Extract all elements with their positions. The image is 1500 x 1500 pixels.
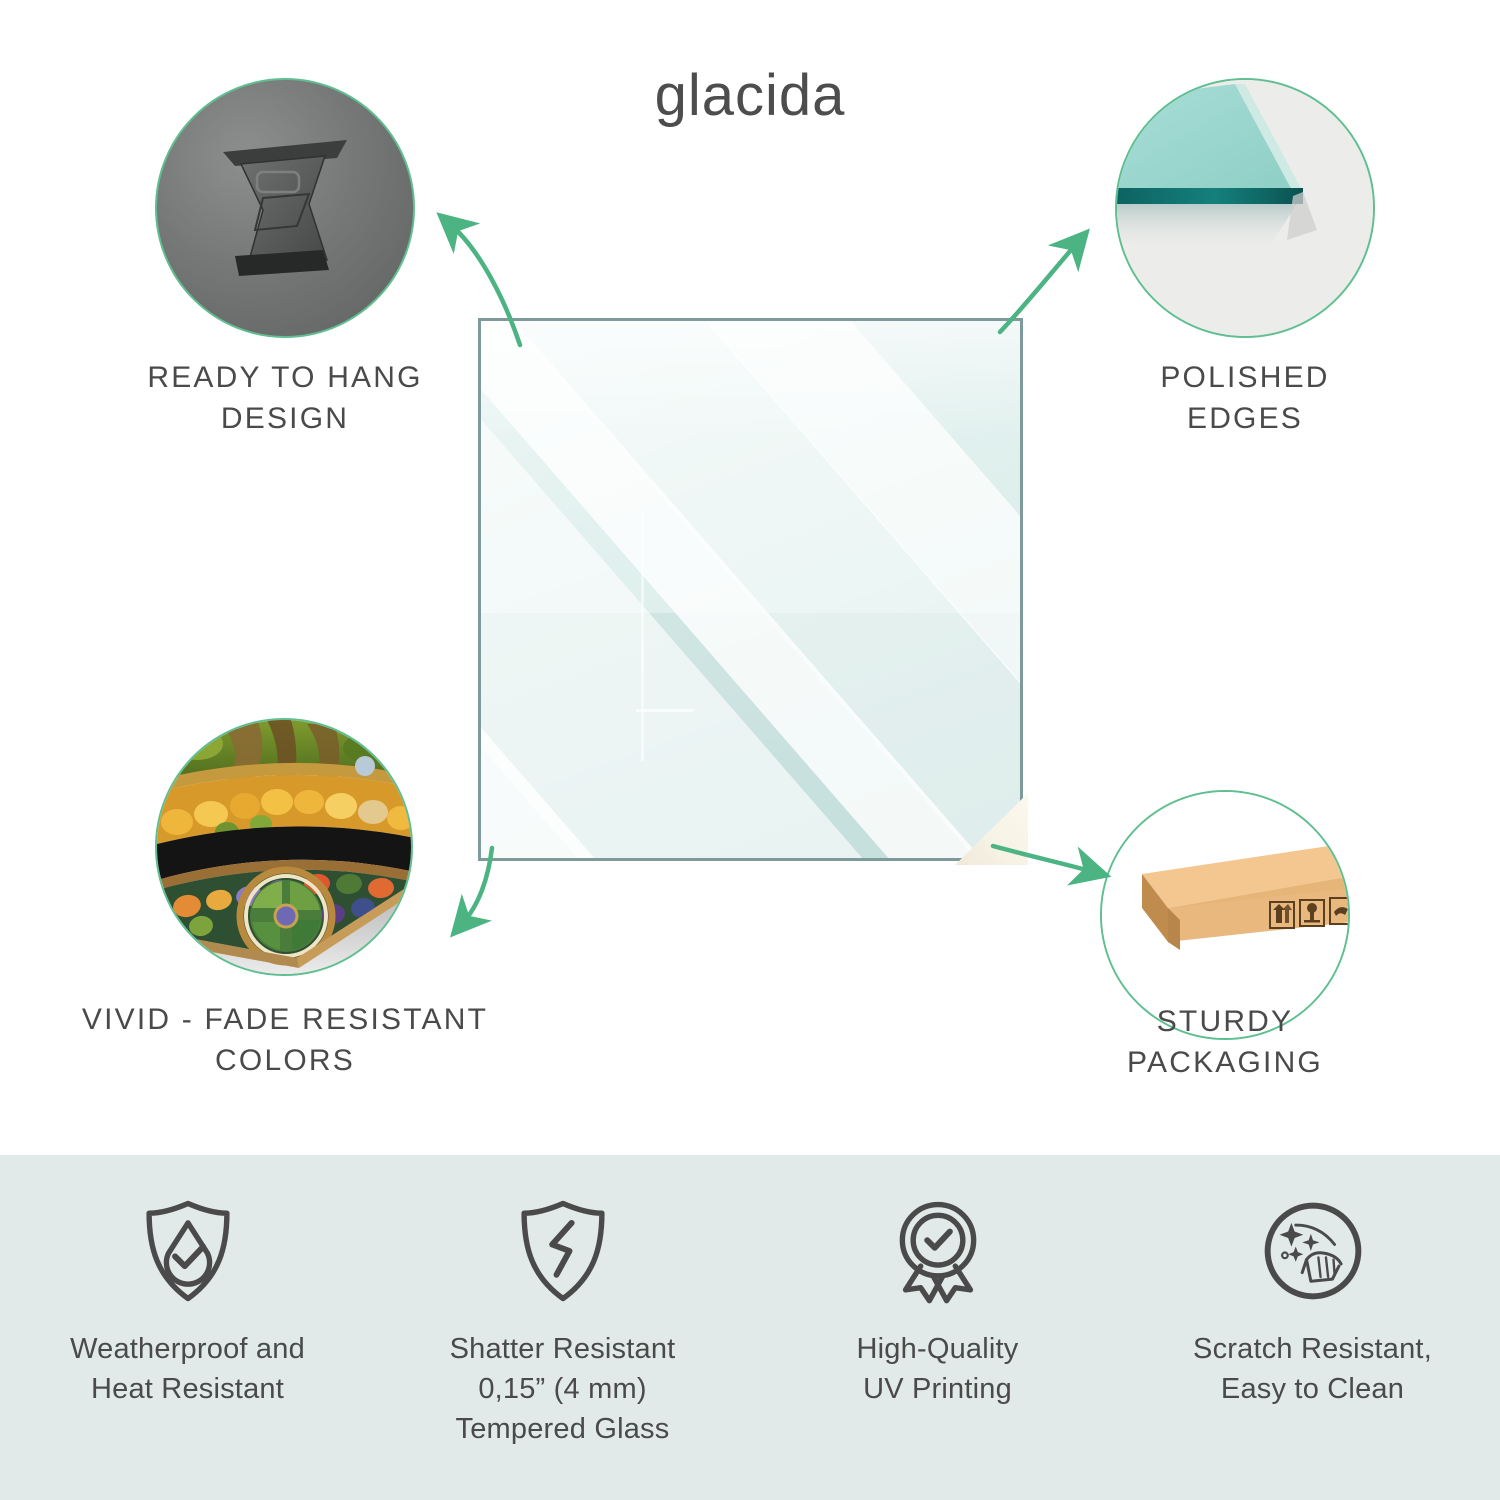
award-ribbon-check-icon — [884, 1197, 992, 1305]
hanging-bracket-icon — [205, 128, 365, 288]
sparkle-hand-wipe-icon — [1259, 1197, 1367, 1305]
polished-edges-image — [1115, 78, 1375, 338]
tempered-glass-panel — [478, 318, 1023, 861]
shield-droplet-check-icon — [134, 1197, 242, 1305]
feature-bar: Weatherproof and Heat Resistant Shatter … — [0, 1155, 1500, 1500]
infographic-top-section: glacida READY TO HANG DESIGN — [0, 0, 1500, 1155]
glass-reflection-line — [636, 709, 694, 712]
glass-reflection-line — [641, 511, 644, 761]
glass-corner-illustration — [1117, 80, 1375, 338]
stained-glass-artwork-illustration — [157, 720, 413, 976]
feature-text-weatherproof: Weatherproof and Heat Resistant — [70, 1329, 305, 1409]
vivid-colors-image — [155, 718, 413, 976]
feature-scratch-resistant: Scratch Resistant, Easy to Clean — [1125, 1155, 1500, 1500]
feature-weatherproof: Weatherproof and Heat Resistant — [0, 1155, 375, 1500]
badge-label-ready-to-hang: READY TO HANG DESIGN — [105, 358, 465, 439]
feature-text-scratch-resistant: Scratch Resistant, Easy to Clean — [1193, 1329, 1432, 1409]
shield-lightning-icon — [509, 1197, 617, 1305]
feature-text-uv-printing: High-Quality UV Printing — [857, 1329, 1019, 1409]
badge-label-sturdy-packaging: STURDY PACKAGING — [970, 1002, 1480, 1083]
feature-uv-printing: High-Quality UV Printing — [750, 1155, 1125, 1500]
badge-label-polished-edges: POLISHED EDGES — [1065, 358, 1425, 439]
badge-label-vivid-colors: VIVID - FADE RESISTANT COLORS — [20, 1000, 550, 1081]
feature-text-shatter-resistant: Shatter Resistant 0,15” (4 mm) Tempered … — [450, 1329, 676, 1449]
feature-shatter-resistant: Shatter Resistant 0,15” (4 mm) Tempered … — [375, 1155, 750, 1500]
glass-gloss-highlight — [481, 321, 1020, 441]
ready-to-hang-image — [155, 78, 415, 338]
